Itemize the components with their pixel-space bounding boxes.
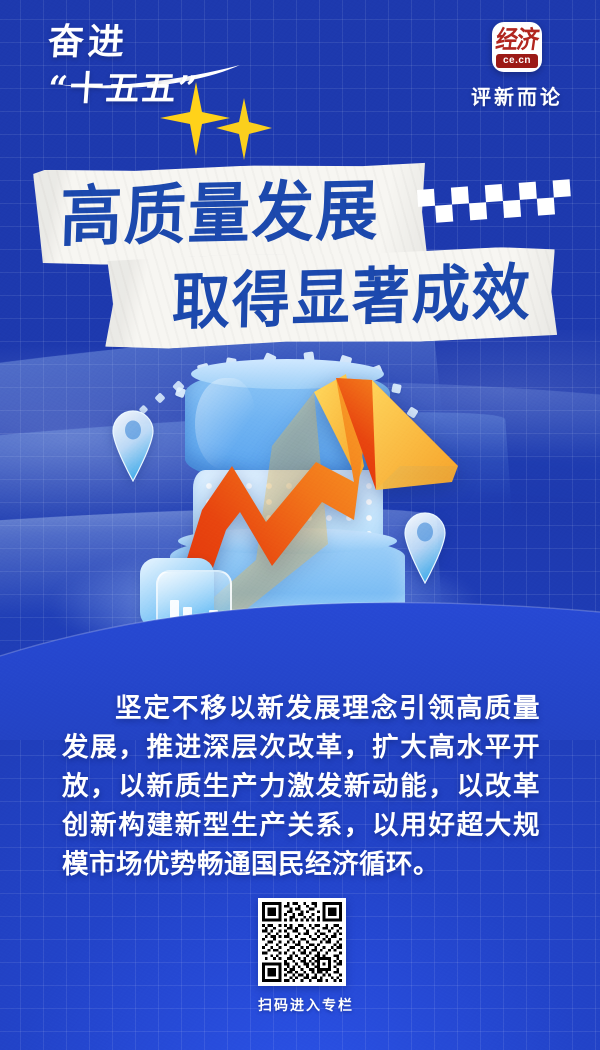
- logo-wordmark: 经济: [492, 24, 542, 55]
- body-paragraph: 坚定不移以新发展理念引领高质量发展，推进深层次改革，扩大高水平开放，以新质生产力…: [62, 690, 540, 885]
- headline-line2: 取得显著成效: [171, 262, 532, 334]
- campaign-line1: 奋进: [47, 24, 300, 60]
- qr-code[interactable]: [258, 898, 346, 986]
- column-name: 评新而论: [458, 81, 576, 110]
- headline-line1: 高质量发展: [59, 178, 381, 250]
- headline-banner-1: 高质量发展: [33, 162, 427, 266]
- headline-banner-2: 取得显著成效: [103, 246, 557, 351]
- qr-caption: 扫码进入专栏: [258, 995, 346, 1015]
- ce-cn-logo[interactable]: 经济 ce.cn: [492, 22, 542, 72]
- brand-block[interactable]: 经济 ce.cn 评新而论: [458, 20, 576, 110]
- qr-block[interactable]: 扫码进入专栏: [258, 898, 346, 1015]
- poster-root: 奋进 “十五五” 经济 ce.cn 评新而论 高质量发展 取得显著成效 坚定不移: [0, 0, 600, 1050]
- logo-domain: ce.cn: [496, 54, 538, 68]
- background-noise: [0, 0, 600, 1050]
